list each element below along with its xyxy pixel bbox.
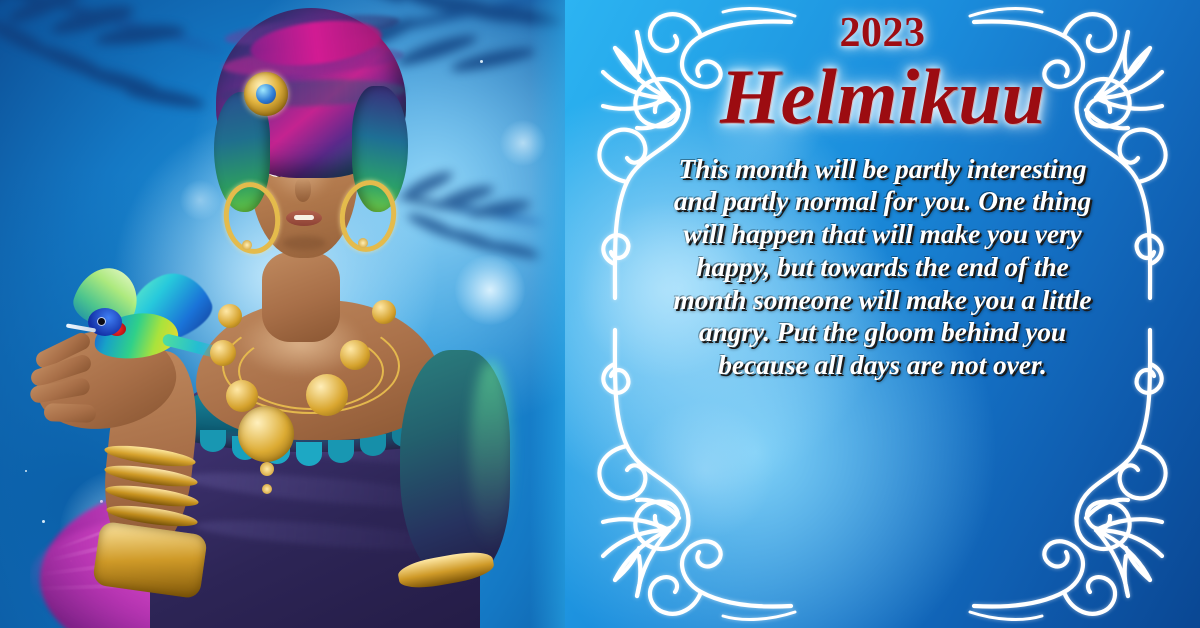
necklace-pendant [262, 484, 272, 494]
teeth [294, 215, 314, 220]
horoscope-text: This month will be partly interesting an… [673, 153, 1093, 382]
necklace-disc [340, 340, 370, 370]
chin-shadow [282, 236, 326, 250]
necklace-disc [210, 340, 236, 366]
necklace-disc [218, 304, 242, 328]
necklace-disc-large [238, 406, 294, 462]
year-label: 2023 [840, 12, 926, 54]
sleeve-right-sheen [470, 360, 512, 550]
text-panel: 2023 Helmikuu This month will be partly … [565, 0, 1200, 628]
earring-right-bead [358, 238, 368, 248]
hummingbird-eye [98, 318, 105, 325]
brooch-gem [256, 84, 276, 104]
month-title: Helmikuu [720, 56, 1045, 139]
necklace-disc [226, 380, 258, 412]
necklace-pendant [260, 462, 274, 476]
lace-scallop [328, 440, 354, 463]
necklace-disc [372, 300, 396, 324]
artwork-photo [0, 0, 600, 628]
hummingbird [62, 282, 212, 402]
fortune-teller-figure [0, 0, 600, 628]
horoscope-card: 2023 Helmikuu This month will be partly … [0, 0, 1200, 628]
earring-left-bead [242, 240, 252, 250]
thumb [44, 403, 97, 423]
lace-scallop [296, 442, 322, 466]
text-content: 2023 Helmikuu This month will be partly … [615, 0, 1150, 628]
nose [295, 178, 311, 202]
necklace-disc [306, 374, 348, 416]
necklace [214, 298, 404, 438]
